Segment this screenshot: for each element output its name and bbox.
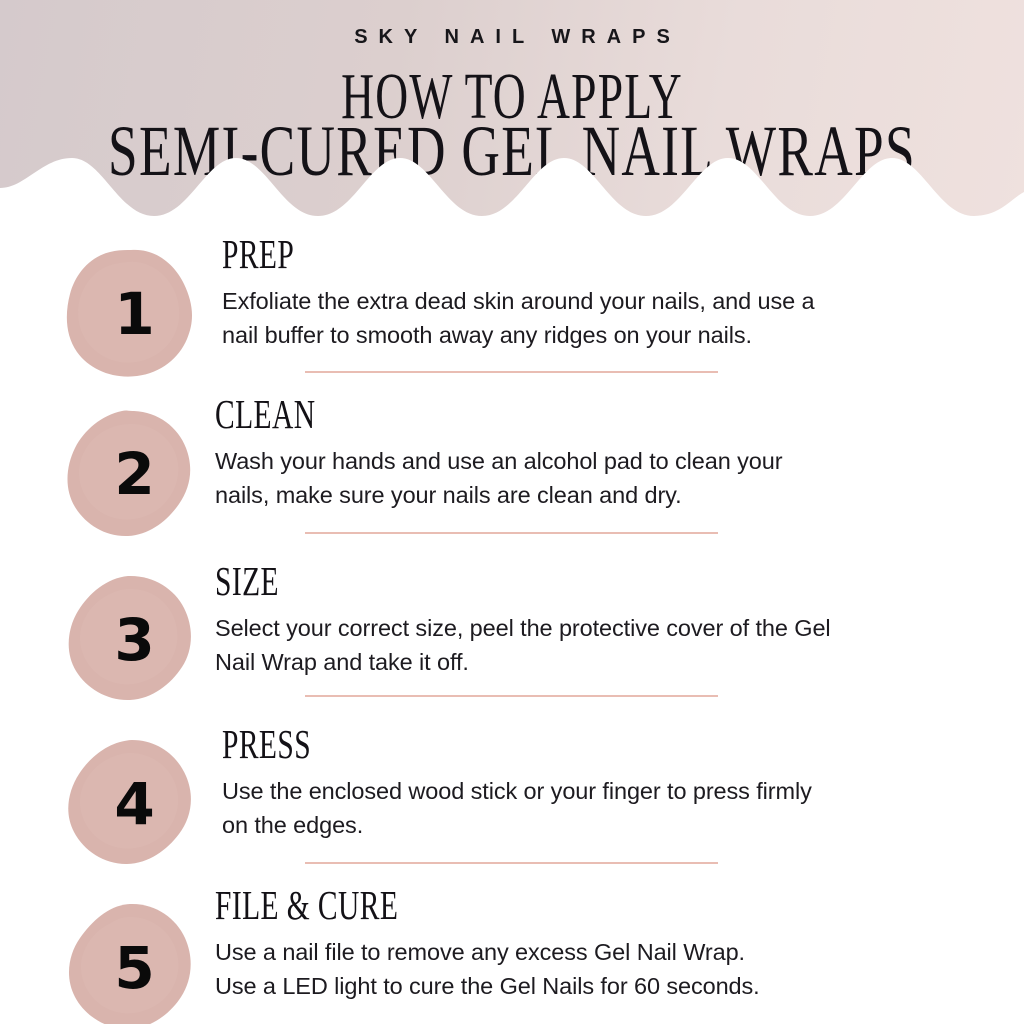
step-title: PREP [222,234,845,275]
step-number: 5 [62,900,198,1024]
step-body: Select your correct size, peel the prote… [215,611,995,679]
step-number-badge: 1 [62,246,198,382]
step-title: CLEAN [215,394,838,435]
step-number-badge: 5 [62,900,198,1024]
step-body: Wash your hands and use an alcohol pad t… [215,444,975,512]
brand-title: SKY NAIL WRAPS [0,26,1024,49]
step-body: Exfoliate the extra dead skin around you… [222,284,982,352]
infographic-canvas: SKY NAIL WRAPS HOW TO APPLY SEMI-CURED G… [0,0,1024,1024]
step-divider [305,371,718,373]
step-number-badge: 4 [62,736,198,872]
step-divider [305,862,718,864]
step-number: 4 [62,736,198,872]
header-band: SKY NAIL WRAPS HOW TO APPLY SEMI-CURED G… [0,0,1024,230]
step-divider [305,695,718,697]
step-number: 2 [62,406,198,542]
step-number: 3 [62,572,198,708]
step-body: Use a nail file to remove any excess Gel… [215,935,1005,1003]
step-number-badge: 2 [62,406,198,542]
step-title: SIZE [215,561,855,602]
step-title: FILE & CURE [215,885,863,926]
step-number-badge: 3 [62,572,198,708]
step-title: PRESS [222,724,845,765]
step-number: 1 [62,246,198,382]
step-divider [305,532,718,534]
wave-divider-icon [0,152,1024,230]
step-body: Use the enclosed wood stick or your fing… [222,774,982,842]
